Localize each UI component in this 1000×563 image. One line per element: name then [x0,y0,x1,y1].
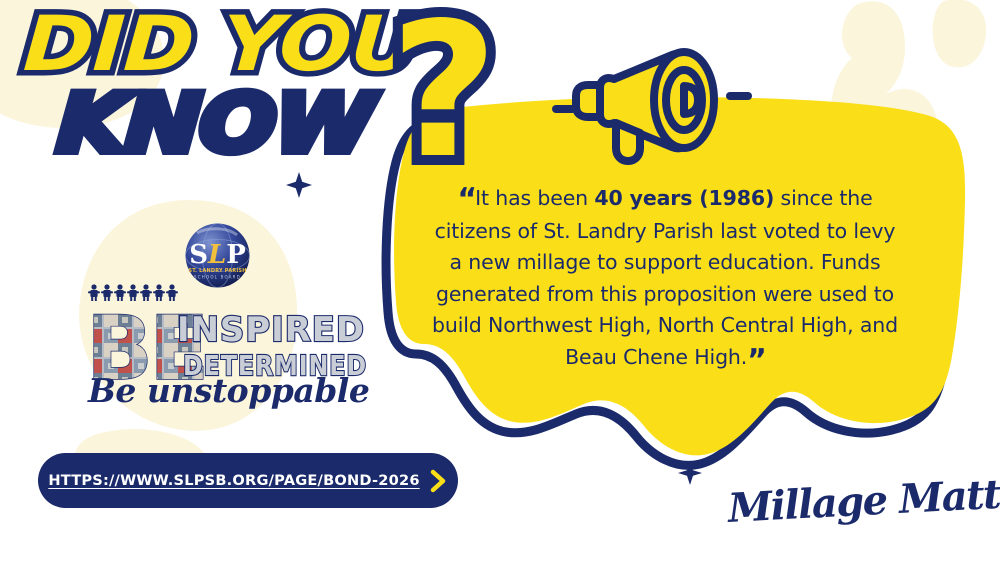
logo-org-line-1: ST. LANDRY PARISH [188,268,246,274]
chevron-right-icon [430,469,448,493]
sparkle-icon-left [286,172,312,198]
slogan-script-line: Be unstoppable [88,371,368,410]
bond-page-link-button[interactable]: HTTPS://WWW.SLPSB.ORG/PAGE/BOND-2026 [38,453,458,508]
logo-monogram: SLP [189,240,246,270]
slp-logo-badge: SLP ST. LANDRY PARISH SCHOOL BOARD [181,219,254,292]
poster-canvas: DID YOU KNOW ? “It has been 40 years (19… [0,0,1000,563]
sparkle-icon-bubble [678,461,702,485]
bond-page-url-label: HTTPS://WWW.SLPSB.ORG/PAGE/BOND-2026 [48,472,419,489]
slogan-word-inspired: INSPIRED [177,310,365,350]
logo-org-line-2: SCHOOL BOARD [194,275,241,280]
